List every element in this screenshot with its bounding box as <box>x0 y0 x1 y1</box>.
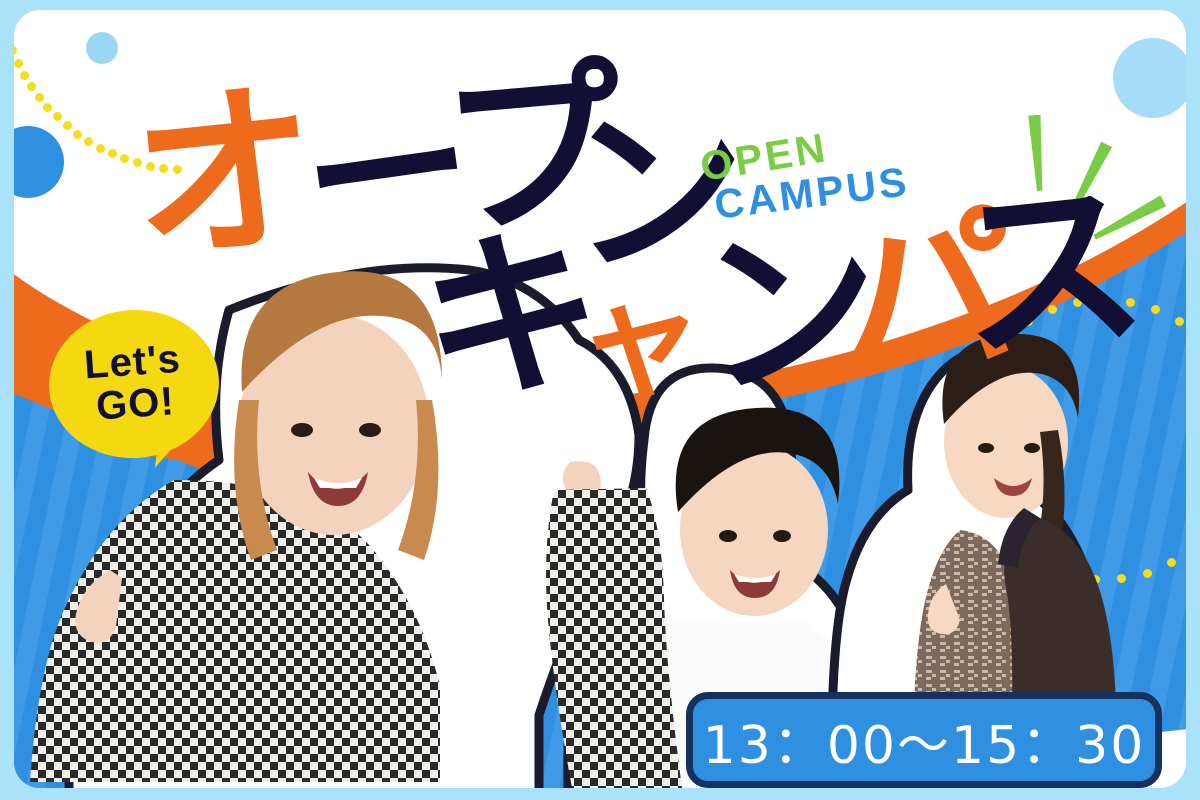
event-time-text: 13：00〜15：30 <box>703 703 1146 778</box>
lets-go-line2: GO! <box>95 379 176 428</box>
open-campus-poster: オ ー プ ン キ ャ ン パ ス OPEN CAMPUS Let's GO! … <box>0 0 1200 800</box>
poster-panel: オ ー プ ン キ ャ ン パ ス OPEN CAMPUS Let's GO! … <box>14 10 1186 788</box>
lets-go-line1: Let's <box>83 339 182 386</box>
event-time-badge: 13：00〜15：30 <box>686 692 1162 788</box>
